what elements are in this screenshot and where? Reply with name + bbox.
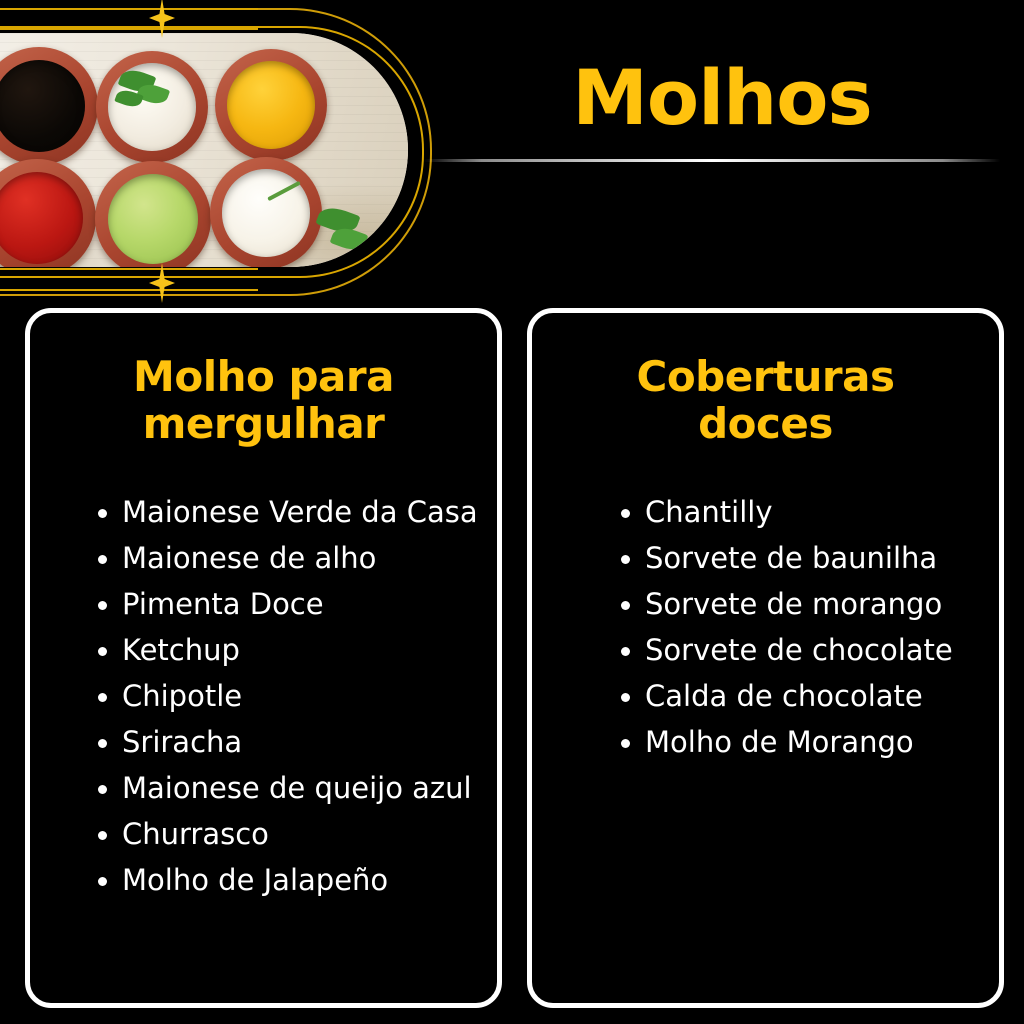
card-title-right: Coberturas doces bbox=[532, 313, 999, 447]
list-item: Maionese de queijo azul bbox=[77, 765, 497, 811]
title-divider bbox=[424, 159, 1000, 162]
list-item: Maionese de alho bbox=[77, 535, 497, 581]
list-item: Ketchup bbox=[77, 627, 497, 673]
gold-rule-top-2 bbox=[0, 28, 258, 30]
sauce-bowl-verde bbox=[95, 161, 211, 267]
list-item: Pimenta Doce bbox=[77, 581, 497, 627]
sauce-bowl-maionese bbox=[210, 157, 322, 267]
sauces-photo bbox=[0, 33, 408, 267]
list-molho-para-mergulhar: Maionese Verde da Casa Maionese de alho … bbox=[30, 447, 497, 903]
list-item: Maionese Verde da Casa bbox=[77, 489, 497, 535]
gold-rule-top-1 bbox=[0, 8, 258, 10]
list-item: Sriracha bbox=[77, 719, 497, 765]
list-item: Molho de Jalapeño bbox=[77, 857, 497, 903]
list-item: Churrasco bbox=[77, 811, 497, 857]
menu-poster: Molhos Molho para mergulhar Maionese Ver… bbox=[0, 0, 1024, 1024]
sauce-bowl-tartaro bbox=[96, 51, 208, 163]
list-item: Molho de Morango bbox=[600, 719, 999, 765]
list-item: Sorvete de morango bbox=[600, 581, 999, 627]
card-title-left: Molho para mergulhar bbox=[30, 313, 497, 447]
sauce-bowl-mostarda bbox=[215, 49, 327, 161]
page-title-text: Molhos bbox=[420, 60, 1024, 136]
list-item: Sorvete de chocolate bbox=[600, 627, 999, 673]
list-item: Chantilly bbox=[600, 489, 999, 535]
list-coberturas-doces: Chantilly Sorvete de baunilha Sorvete de… bbox=[532, 447, 999, 765]
page-title: Molhos bbox=[420, 60, 1024, 136]
card-coberturas-doces: Coberturas doces Chantilly Sorvete de ba… bbox=[527, 308, 1004, 1008]
card-molho-para-mergulhar: Molho para mergulhar Maionese Verde da C… bbox=[25, 308, 502, 1008]
hero-section bbox=[0, 0, 420, 300]
list-item: Sorvete de baunilha bbox=[600, 535, 999, 581]
gold-rule-bottom-1 bbox=[0, 268, 258, 270]
list-item: Calda de chocolate bbox=[600, 673, 999, 719]
list-item: Chipotle bbox=[77, 673, 497, 719]
gold-rule-bottom-2 bbox=[0, 289, 258, 291]
